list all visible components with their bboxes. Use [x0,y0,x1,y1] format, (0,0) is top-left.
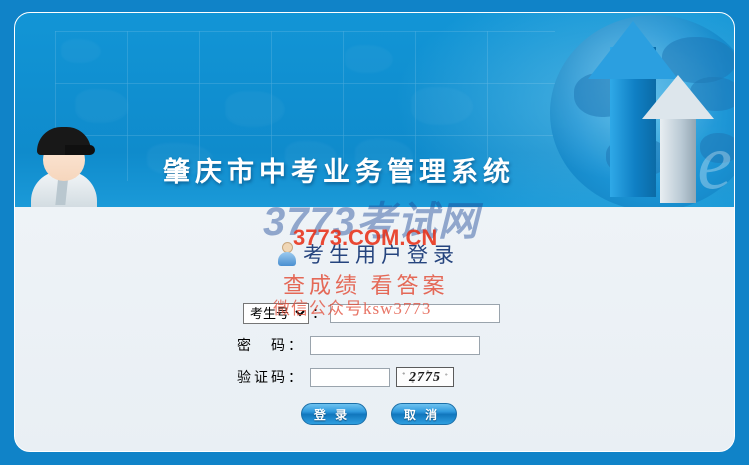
login-button[interactable]: 登 录 [301,403,367,425]
account-colon: ： [310,303,330,323]
tile-blob [345,45,393,73]
captcha-image[interactable]: 2775 [396,367,454,387]
form-buttons: 登 录 取 消 [15,403,734,425]
account-type-wrapper: 考生号 [222,303,310,324]
login-form: 考生号 ： 密 码： 验证码： 2775 登 录 取 消 [15,299,734,425]
captcha-input[interactable] [310,368,390,387]
login-card: e 肇庆市中考业务管理系统 考生用户登录 考生号 [14,12,735,452]
password-input[interactable] [310,336,480,355]
form-row-captcha: 验证码： 2775 [15,363,734,391]
e-logo-icon: e [697,123,732,201]
avatar-cap-brim [65,145,95,155]
tile-blob [225,91,285,127]
up-arrow-head-icon [588,21,678,79]
form-row-password: 密 码： [15,331,734,359]
student-avatar-icon [27,123,101,207]
cancel-button[interactable]: 取 消 [391,403,457,425]
login-heading-text: 考生用户登录 [303,239,459,269]
page-root: e 肇庆市中考业务管理系统 考生用户登录 考生号 [0,0,749,465]
page-title: 肇庆市中考业务管理系统 [163,150,515,189]
account-type-select[interactable]: 考生号 [243,303,309,324]
account-input[interactable] [330,304,500,323]
tile-blob [61,39,101,63]
user-icon-body [278,252,296,266]
up-arrow-secondary-icon [660,107,696,203]
captcha-label: 验证码： [222,367,310,387]
user-icon [277,242,297,266]
password-label: 密 码： [222,335,310,355]
up-arrow-secondary-head-icon [642,75,714,119]
login-heading: 考生用户登录 [277,239,459,269]
form-row-account: 考生号 ： [15,299,734,327]
tile-blob [411,87,473,125]
banner: e 肇庆市中考业务管理系统 [15,13,734,207]
tile-blob [75,89,129,123]
